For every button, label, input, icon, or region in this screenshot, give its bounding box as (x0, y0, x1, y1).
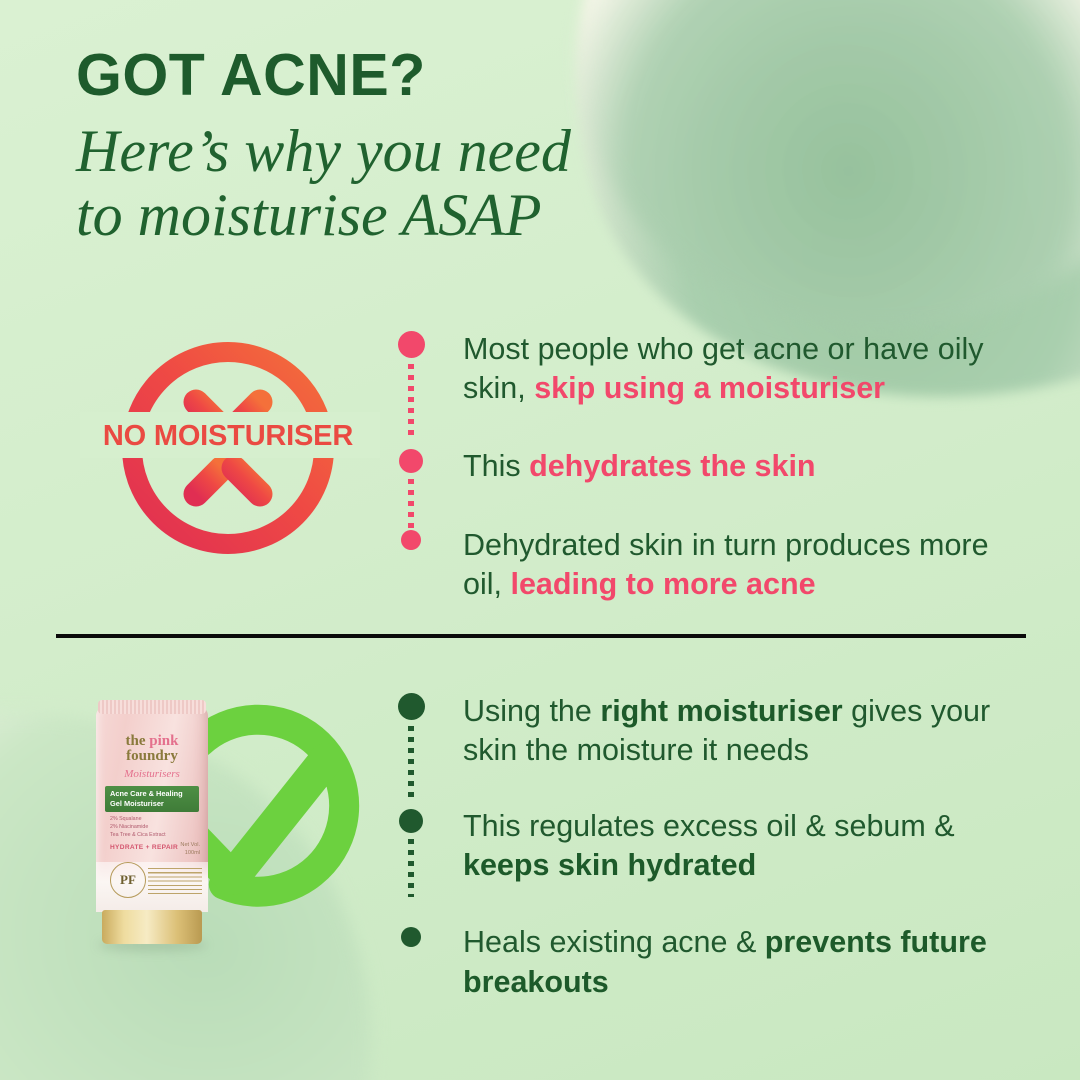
list-item-text: Most people who get acne or have oily sk… (463, 330, 993, 409)
list-item: Dehydrated skin in turn produces more oi… (398, 526, 993, 605)
bullet-dot (399, 809, 423, 833)
headline-block: GOT ACNE? Here’s why you need to moistur… (76, 46, 776, 247)
tube-range-label: Moisturisers (96, 768, 208, 780)
list-item-text: This dehydrates the skin (463, 447, 993, 486)
infographic-canvas: GOT ACNE? Here’s why you need to moistur… (0, 0, 1080, 1080)
list-item-text: Heals existing acne & prevents future br… (463, 923, 993, 1002)
bullet-dot (398, 693, 425, 720)
brand-foundry: foundry (126, 748, 178, 764)
product-tube: the pink foundry Moisturisers Acne Care … (96, 692, 208, 944)
list-item: This dehydrates the skin (398, 447, 993, 486)
page-title: GOT ACNE? (76, 46, 776, 105)
tube-pf-seal: PF (110, 862, 146, 898)
bullet-connector (408, 726, 414, 798)
tube-gold-cap (102, 910, 202, 944)
list-item: Most people who get acne or have oily sk… (398, 330, 993, 409)
bullet-connector (408, 364, 414, 436)
tube-product-name: Acne Care & Healing Gel Moisturiser (105, 786, 199, 812)
bullet-dot (399, 449, 423, 473)
list-item: This regulates excess oil & sebum & keep… (398, 807, 993, 886)
tube-gold-stripes (148, 868, 202, 894)
bullet-dot (398, 331, 425, 358)
brand-the: the (126, 733, 150, 749)
page-subtitle: Here’s why you need to moisturise ASAP (76, 119, 776, 247)
badge-label: NO MOISTURISER (88, 422, 368, 451)
tube-crimp-seal (98, 700, 206, 714)
tube-claim: HYDRATE + REPAIR (110, 844, 178, 851)
list-item-text: Using the right moisturiser gives your s… (463, 692, 993, 771)
no-moisturiser-badge: NO MOISTURISER (88, 336, 368, 560)
negative-points-list: Most people who get acne or have oily sk… (398, 330, 993, 605)
bullet-dot (401, 530, 421, 550)
tube-volume: Net Vol. 100ml (180, 842, 200, 858)
list-item: Using the right moisturiser gives your s… (398, 692, 993, 771)
bullet-connector (408, 839, 414, 897)
list-item: Heals existing acne & prevents future br… (398, 923, 993, 1002)
tube-brand-name: the pink foundry (96, 734, 208, 765)
list-item-text: Dehydrated skin in turn produces more oi… (463, 526, 993, 605)
brand-pink: pink (149, 733, 178, 749)
list-item-text: This regulates excess oil & sebum & keep… (463, 807, 993, 886)
tube-ingredients: 2% Squalane 2% Niacinamide Tea Tree & Ci… (110, 816, 204, 840)
section-divider (56, 634, 1026, 638)
positive-points-list: Using the right moisturiser gives your s… (398, 692, 993, 1002)
bullet-dot (401, 927, 421, 947)
